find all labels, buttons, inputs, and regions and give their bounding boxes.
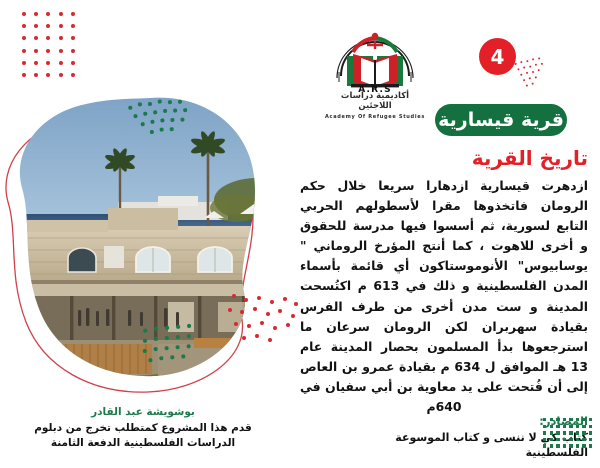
village-title-label: قرية قيسارية <box>438 109 564 131</box>
history-body-text: ازدهرت قيسارية ازدهارا سريعا خلال حكم ال… <box>300 176 588 417</box>
svg-text:Sea Gallery: Sea Gallery <box>8 262 22 270</box>
author-name: بوشويشة عبد القادر <box>18 406 268 418</box>
author-section: بوشويشة عبد القادر قدم هذا المشروع كمتطل… <box>18 406 268 451</box>
logo-english-name: Academy Of Refugee Studies <box>323 114 427 120</box>
logo-arabic-name: أكاديمية دراسات اللاجئين <box>323 91 427 111</box>
red-dot-cluster-decoration <box>228 294 300 348</box>
number-badge: 4 <box>479 38 516 75</box>
history-section: تاريخ القرية ازدهرت قيسارية ازدهارا سريع… <box>300 146 588 417</box>
red-dot-spray-decoration <box>514 54 551 90</box>
red-dot-grid-decoration <box>22 12 75 77</box>
poster-canvas: Sea Gallery <box>0 0 600 468</box>
green-dot-grid-decoration <box>543 418 592 448</box>
village-title-badge: قرية قيسارية <box>435 104 567 136</box>
history-heading: تاريخ القرية <box>300 146 588 170</box>
number-badge-value: 4 <box>491 45 505 69</box>
author-note: قدم هذا المشروع كمتطلب تخرج من دبلوم الد… <box>18 421 268 451</box>
academy-logo: A.R.S أكاديمية دراسات اللاجئين Academy O… <box>323 16 427 120</box>
